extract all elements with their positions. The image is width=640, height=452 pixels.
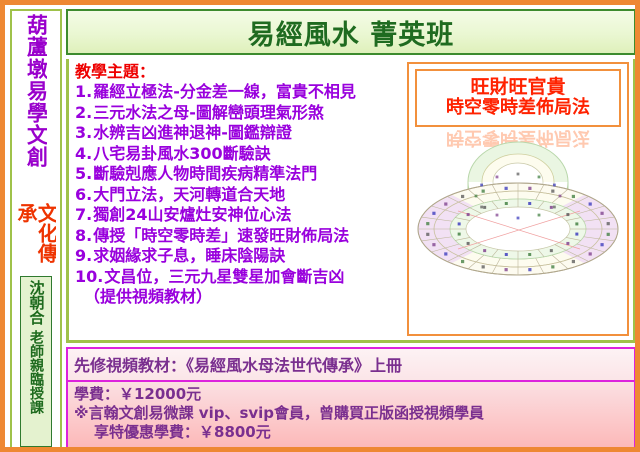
topic-rows: 1.羅經立極法-分金差一線，富貴不相見2.三元水法之母-圖解巒頭理氣形煞3.水辨… bbox=[75, 82, 403, 307]
topic-item-text: 傳授「時空零時差」速發旺財佈局法 bbox=[93, 226, 349, 245]
pricing-line: ※言翰文創易微課 vip、svip會員，曾購買正版函授視頻學員 bbox=[74, 404, 628, 423]
topic-item: 5.斷驗剋應人物時間疾病精準法門 bbox=[75, 164, 403, 184]
topic-item-text: （提供視頻教材） bbox=[76, 287, 212, 306]
topic-item-number: 10. bbox=[75, 267, 103, 286]
topic-item-text: 求姻緣求子息，睡床陰陽訣 bbox=[93, 246, 285, 265]
topic-item-number: 9. bbox=[75, 246, 92, 265]
promo-panel: 時空零時差佈局法 旺財旺官貴 時空零時差佈局法 bbox=[407, 62, 629, 336]
topic-item-text: 文昌位，三元九星雙星加會斷吉凶 bbox=[104, 267, 344, 286]
brand-sidebar: 葫蘆墩易學文創 文化傳承 沈朝合 老師親臨授課 bbox=[10, 9, 62, 449]
topic-item-number: 5. bbox=[75, 164, 92, 183]
promo-headline-line2: 時空零時差佈局法 bbox=[419, 98, 617, 119]
topic-item-number: 7. bbox=[75, 205, 92, 224]
teacher-role: 老師親臨授課 bbox=[29, 330, 43, 414]
pricing-line: 享特優惠學費：￥8800元 bbox=[74, 423, 628, 442]
topic-item-text: 斷驗剋應人物時間疾病精準法門 bbox=[93, 164, 317, 183]
pricing-body: 學費：￥12000元※言翰文創易微課 vip、svip會員，曾購買正版函授視頻學… bbox=[68, 382, 634, 447]
compass-svg bbox=[410, 116, 626, 306]
pricing-lines: 學費：￥12000元※言翰文創易微課 vip、svip會員，曾購買正版函授視頻學… bbox=[74, 385, 628, 442]
teacher-name: 沈朝合 bbox=[29, 280, 44, 325]
brand-name: 葫蘆墩易學文創 bbox=[26, 14, 47, 198]
topic-item: 1.羅經立極法-分金差一線，富貴不相見 bbox=[75, 82, 403, 102]
topic-item-text: 八宅易卦風水300斷驗訣 bbox=[93, 144, 270, 163]
content-band: 教學主題： 1.羅經立極法-分金差一線，富貴不相見2.三元水法之母-圖解巒頭理氣… bbox=[66, 59, 636, 343]
topic-list: 教學主題： 1.羅經立極法-分金差一線，富貴不相見2.三元水法之母-圖解巒頭理氣… bbox=[69, 59, 405, 340]
teacher-badge: 沈朝合 老師親臨授課 bbox=[20, 276, 52, 447]
topic-item-text: 獨創24山安爐灶安神位心法 bbox=[93, 205, 291, 224]
topic-list-heading: 教學主題： bbox=[75, 62, 403, 82]
topic-item-number: 4. bbox=[75, 144, 92, 163]
promo-headline-box: 旺財旺官貴 時空零時差佈局法 bbox=[415, 69, 621, 127]
topic-item-number: 8. bbox=[75, 226, 92, 245]
topic-item: 3.水辨吉凶進神退神-圖鑑辯證 bbox=[75, 123, 403, 143]
promo-headline-line1: 旺財旺官貴 bbox=[419, 76, 617, 98]
page-title-bar: 易經風水 菁英班 bbox=[66, 9, 636, 55]
pricing-line: 學費：￥12000元 bbox=[74, 385, 628, 404]
topic-item-text: 水辨吉凶進神退神-圖鑑辯證 bbox=[93, 123, 292, 142]
topic-item: 10.文昌位，三元九星雙星加會斷吉凶 bbox=[75, 267, 403, 287]
prerequisite-label: 先修視頻教材：《易經風水母法世代傳承》上冊 bbox=[68, 349, 634, 382]
topic-item-number: 3. bbox=[75, 123, 92, 142]
topic-item-text: 羅經立極法-分金差一線，富貴不相見 bbox=[93, 82, 356, 101]
enrollment-section: 先修視頻教材：《易經風水母法世代傳承》上冊 學費：￥12000元※言翰文創易微課… bbox=[66, 347, 636, 449]
promo-reflection-text: 時空零時差佈局法 bbox=[409, 126, 627, 152]
topic-item: 6.大門立法，天河轉道合天地 bbox=[75, 185, 403, 205]
topic-item-number: 6. bbox=[75, 185, 92, 204]
topic-item-text: 三元水法之母-圖解巒頭理氣形煞 bbox=[93, 103, 324, 122]
topic-item: 4.八宅易卦風水300斷驗訣 bbox=[75, 144, 403, 164]
luopan-compass-chart bbox=[409, 116, 627, 306]
topic-item-number: 2. bbox=[75, 103, 92, 122]
brand-subtitle: 文化傳承 bbox=[16, 203, 57, 269]
topic-item-number: 1. bbox=[75, 82, 92, 101]
topic-item: （提供視頻教材） bbox=[75, 287, 403, 307]
topic-item: 8.傳授「時空零時差」速發旺財佈局法 bbox=[75, 226, 403, 246]
topic-item-text: 大門立法，天河轉道合天地 bbox=[93, 185, 285, 204]
page-title: 易經風水 菁英班 bbox=[248, 13, 454, 52]
topic-item: 7.獨創24山安爐灶安神位心法 bbox=[75, 205, 403, 225]
main-column: 易經風水 菁英班 教學主題： 1.羅經立極法-分金差一線，富貴不相見2.三元水法… bbox=[66, 9, 636, 449]
topic-item: 2.三元水法之母-圖解巒頭理氣形煞 bbox=[75, 103, 403, 123]
topic-item: 9.求姻緣求子息，睡床陰陽訣 bbox=[75, 246, 403, 266]
poster-root: 葫蘆墩易學文創 文化傳承 沈朝合 老師親臨授課 易經風水 菁英班 教學主題： 1… bbox=[0, 0, 640, 452]
poster-inner: 葫蘆墩易學文創 文化傳承 沈朝合 老師親臨授課 易經風水 菁英班 教學主題： 1… bbox=[10, 9, 636, 449]
